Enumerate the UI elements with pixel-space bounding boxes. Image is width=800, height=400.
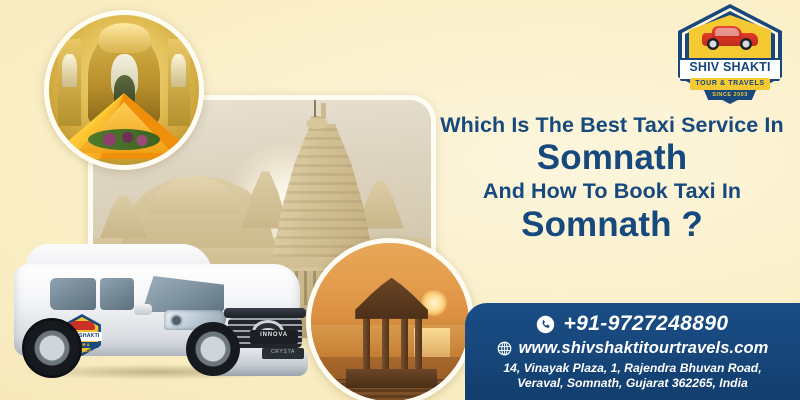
shrine-dome — [99, 23, 150, 53]
logo-car-window — [715, 28, 739, 36]
car-rear-wheel — [22, 318, 82, 378]
address-line-2: Veraval, Somnath, Gujarat 362265, India — [465, 376, 800, 391]
classic-car-icon — [702, 26, 758, 50]
headline-line-1: Which Is The Best Taxi Service In — [434, 112, 790, 138]
website-url[interactable]: www.shivshaktitourtravels.com — [519, 339, 769, 358]
car-model-badge-text: INNOVA — [250, 332, 298, 338]
pavilion-platform — [346, 369, 438, 388]
car-side-window — [100, 278, 134, 310]
logo-car-wheel-rear — [707, 38, 719, 50]
phone-number[interactable]: +91-9727248890 — [563, 312, 728, 336]
headline-block: Which Is The Best Taxi Service In Somnat… — [434, 112, 790, 245]
globe-icon — [497, 341, 512, 356]
innova-crysta-taxi-image: INNOVA CRYSTA SHIV SHAKTI TOUR & TRAVELS — [4, 238, 310, 386]
brand-logo[interactable]: SHIV SHAKTI TOUR & TRAVELS SINCE 2003 — [678, 4, 782, 104]
temple-flagpole — [314, 95, 316, 117]
car-model-badge: INNOVA — [250, 330, 298, 344]
headline-line-3: And How To Book Taxi In — [434, 178, 790, 205]
car-rear-window — [50, 278, 96, 310]
shrine-niche-left — [62, 54, 77, 87]
car-grille-top — [224, 308, 306, 318]
logo-tagline-text: TOUR & TRAVELS — [690, 78, 770, 90]
logo-name-text: SHIV SHAKTI — [680, 60, 780, 75]
pavilion-column-1 — [363, 316, 370, 370]
logo-car-wheel-front — [740, 38, 752, 50]
temple-amalaka — [306, 118, 328, 129]
logo-tagline-band: TOUR & TRAVELS — [690, 78, 770, 90]
pavilion-column-2 — [382, 316, 389, 370]
phone-icon — [536, 315, 555, 334]
logo-since-text: SINCE 2003 — [704, 90, 756, 100]
shrine-niche-right — [171, 54, 186, 87]
contact-panel: +91-9727248890 www.shivshaktitourtravels… — [465, 303, 800, 400]
car-windshield — [142, 276, 224, 312]
taxi-service-banner: INNOVA CRYSTA SHIV SHAKTI TOUR & TRAVELS — [0, 0, 800, 400]
sunset-pavilion-circle-image — [306, 238, 474, 400]
shrine-flower-offerings — [88, 129, 160, 150]
car-variant-badge: CRYSTA — [262, 348, 304, 359]
shrine-circle-image — [44, 10, 204, 170]
car-side-mirror — [134, 304, 152, 315]
pavilion-column-4 — [415, 316, 422, 370]
car-variant-badge-text: CRYSTA — [262, 349, 304, 355]
temple-kalash — [321, 103, 326, 119]
logo-since-ribbon: SINCE 2003 — [704, 90, 756, 100]
pavilion-column-3 — [401, 316, 408, 370]
address-line-1: 14, Vinayak Plaza, 1, Rajendra Bhuvan Ro… — [465, 361, 800, 376]
phone-row[interactable]: +91-9727248890 — [465, 312, 800, 336]
car-front-wheel — [186, 322, 240, 376]
headline-line-2: Somnath — [434, 138, 790, 178]
headline-line-4: Somnath ? — [434, 205, 790, 245]
website-row[interactable]: www.shivshaktitourtravels.com — [465, 339, 800, 358]
